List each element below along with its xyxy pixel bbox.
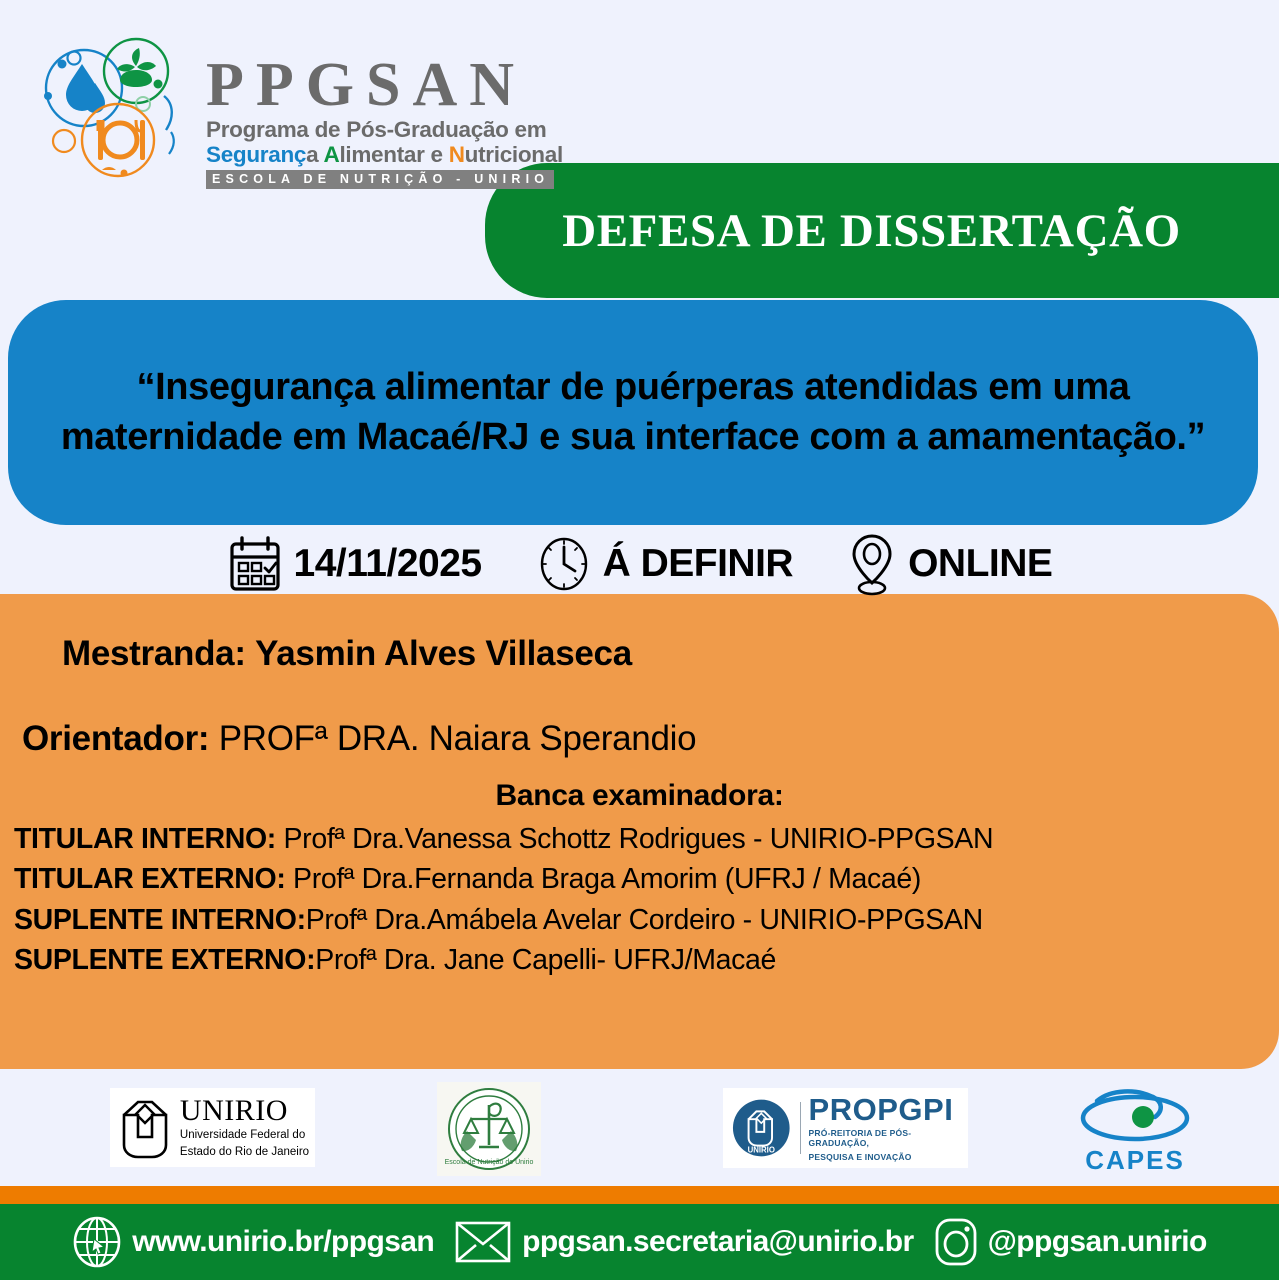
logo-e: e — [431, 142, 449, 167]
board-member-role: SUPLENTE EXTERNO: — [14, 944, 315, 976]
location-pin-icon — [847, 532, 897, 596]
globe-icon — [72, 1215, 122, 1269]
board-member: SUPLENTE EXTERNO:Profª Dra. Jane Capelli… — [14, 940, 1279, 980]
event-date-label: 14/11/2025 — [294, 542, 482, 586]
unirio-subtitle-2: Estado do Rio de Janeiro — [180, 1145, 309, 1159]
poster-canvas: PPGSAN Programa de Pós-Graduação em Segu… — [0, 0, 1279, 1280]
propgpi-logo: UNIRIO PROPGPI PRÓ-REITORIA DE PÓS-GRADU… — [723, 1088, 968, 1168]
escola-nutricao-emblem-icon: Escola de Nutrição do Unirio — [443, 1085, 535, 1173]
board-title: Banca examinadora: — [0, 779, 1279, 813]
ppgsan-emblem-icon — [36, 36, 196, 181]
board-member-name: Profª Dra.Fernanda Braga Amorim (UFRJ / … — [285, 863, 921, 895]
defense-type-banner: DEFESA DE DISSERTAÇÃO — [485, 163, 1279, 298]
calendar-icon — [227, 535, 283, 593]
footer-accent-stripe — [0, 1186, 1279, 1204]
propgpi-unirio-badge-icon: UNIRIO — [731, 1097, 792, 1159]
propgpi-subtitle-1: PRÓ-REITORIA DE PÓS-GRADUAÇÃO, — [809, 1128, 968, 1149]
capes-logo: CAPES — [1070, 1088, 1200, 1176]
board-list: TITULAR INTERNO: Profª Dra.Vanessa Schot… — [14, 819, 1279, 981]
defense-type-label: DEFESA DE DISSERTAÇÃO — [562, 204, 1203, 258]
clock-icon — [536, 535, 592, 593]
thesis-title-banner: “Insegurança alimentar de puérperas aten… — [8, 300, 1258, 525]
logo-school-strip: ESCOLA DE NUTRIÇÃO - UNIRIO — [206, 170, 554, 189]
logo-seguranca: Seguranç — [206, 142, 306, 167]
advisor-label: Orientador: — [22, 719, 209, 758]
event-time-label: Á DEFINIR — [603, 542, 794, 586]
unirio-subtitle-1: Universidade Federal do — [180, 1128, 309, 1142]
logo-alimentar-initial: A — [323, 142, 339, 167]
thesis-title-text: “Insegurança alimentar de puérperas aten… — [8, 363, 1258, 462]
footer-website[interactable]: www.unirio.br/ppgsan — [72, 1215, 434, 1269]
logo-acronym: PPGSAN — [206, 56, 563, 115]
logo-nutricional-initial: N — [449, 142, 465, 167]
propgpi-subtitle-2: PESQUISA E INOVAÇÃO — [809, 1152, 968, 1163]
envelope-icon — [454, 1219, 512, 1265]
escola-nutricao-logo: Escola de Nutrição do Unirio — [437, 1082, 541, 1176]
logo-subtitle-line2: Segurança Alimentar e Nutricional — [206, 142, 563, 167]
footer-instagram-label: @ppgsan.unirio — [988, 1225, 1207, 1259]
event-location: ONLINE — [847, 532, 1052, 596]
student-line: Mestranda: Yasmin Alves Villaseca — [62, 634, 1279, 674]
board-member: TITULAR INTERNO: Profª Dra.Vanessa Schot… — [14, 819, 1279, 859]
details-panel: Mestranda: Yasmin Alves Villaseca Orient… — [0, 594, 1279, 1069]
event-meta-row: 14/11/2025 Á DEFINIR ONLINE — [0, 528, 1279, 600]
instagram-icon — [934, 1216, 978, 1268]
escola-nutricao-ring-text: Escola de Nutrição do Unirio — [445, 1159, 534, 1166]
board-member-role: TITULAR EXTERNO: — [14, 863, 285, 895]
unirio-emblem-icon — [116, 1097, 174, 1159]
footer-website-label: www.unirio.br/ppgsan — [132, 1225, 434, 1259]
ppgsan-logo: PPGSAN Programa de Pós-Graduação em Segu… — [36, 36, 563, 189]
logo-nutricional-rest: utricional — [465, 142, 563, 167]
logo-alimentar-rest: limentar — [339, 142, 430, 167]
student-label: Mestranda: — [62, 634, 246, 673]
board-member: SUPLENTE INTERNO:Profª Dra.Amábela Avela… — [14, 900, 1279, 940]
board-member: TITULAR EXTERNO: Profª Dra.Fernanda Brag… — [14, 859, 1279, 899]
student-name: Yasmin Alves Villaseca — [255, 634, 632, 673]
event-date: 14/11/2025 — [227, 535, 482, 593]
logo-a1: a — [306, 142, 323, 167]
footer-instagram[interactable]: @ppgsan.unirio — [934, 1216, 1207, 1268]
board-member-name: Profª Dra.Vanessa Schottz Rodrigues - UN… — [276, 823, 993, 855]
board-member-role: TITULAR INTERNO: — [14, 823, 276, 855]
event-time: Á DEFINIR — [536, 535, 794, 593]
footer-email-label: ppgsan.secretaria@unirio.br — [522, 1225, 914, 1259]
board-member-role: SUPLENTE INTERNO: — [14, 904, 306, 936]
unirio-name: UNIRIO — [180, 1096, 309, 1126]
board-member-name: Profª Dra. Jane Capelli- UFRJ/Macaé — [315, 944, 776, 976]
footer-email[interactable]: ppgsan.secretaria@unirio.br — [454, 1219, 914, 1265]
capes-emblem-icon — [1075, 1089, 1195, 1147]
propgpi-badge-label: UNIRIO — [748, 1145, 775, 1154]
event-location-label: ONLINE — [908, 542, 1052, 586]
logo-subtitle-line1: Programa de Pós-Graduação em — [206, 117, 563, 142]
board-member-name: Profª Dra.Amábela Avelar Cordeiro - UNIR… — [306, 904, 983, 936]
advisor-name: PROFª DRA. Naiara Sperandio — [219, 719, 697, 758]
capes-name: CAPES — [1085, 1145, 1185, 1176]
contact-footer: www.unirio.br/ppgsan ppgsan.secretaria@u… — [0, 1204, 1279, 1280]
unirio-logo: UNIRIO Universidade Federal do Estado do… — [110, 1088, 315, 1167]
advisor-line: Orientador: PROFª DRA. Naiara Sperandio — [22, 719, 1279, 759]
propgpi-name: PROPGPI — [809, 1094, 968, 1125]
